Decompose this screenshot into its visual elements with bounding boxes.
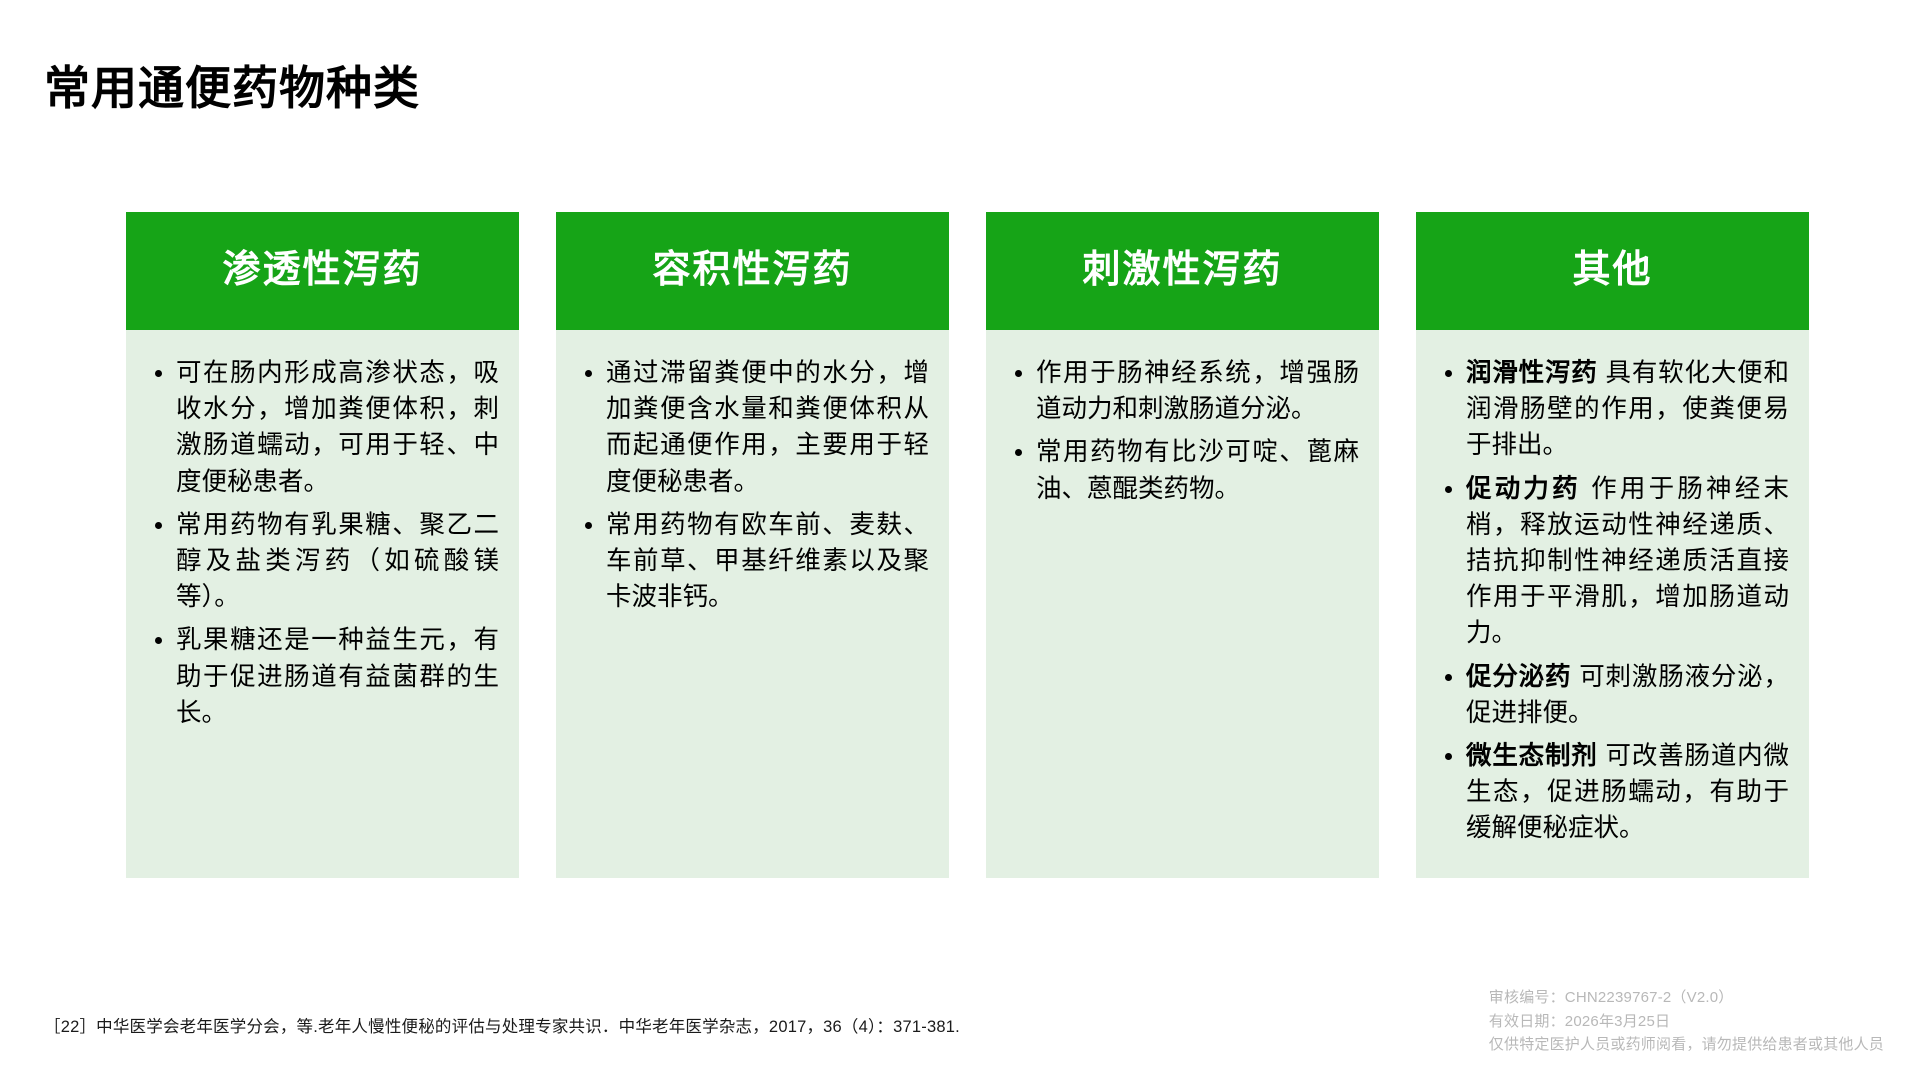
bullet-text: 常用药物有欧车前、麦麸、车前草、甲基纤维素以及聚卡波非钙。 [606,511,929,611]
category-header-osmotic: 渗透性泻药 [126,212,519,330]
category-column-bulking: 容积性泻药 通过滞留粪便中的水分，增加粪便含水量和粪便体积从而起通便作用，主要用… [556,212,949,878]
list-item: 微生态制剂 可改善肠道内微生态，促进肠蠕动，有助于缓解便秘症状。 [1436,738,1789,847]
category-body-bulking: 通过滞留粪便中的水分，增加粪便含水量和粪便体积从而起通便作用，主要用于轻度便秘患… [556,330,949,878]
approval-disclaimer: 仅供特定医护人员或药师阅看，请勿提供给患者或其他人员 [1489,1033,1884,1056]
bullet-text: 作用于肠神经系统，增强肠道动力和刺激肠道分泌。 [1036,359,1359,423]
bullet-text: 常用药物有乳果糖、聚乙二醇及盐类泻药（如硫酸镁等）。 [176,511,499,611]
list-item: 常用药物有乳果糖、聚乙二醇及盐类泻药（如硫酸镁等）。 [146,507,499,616]
category-body-other: 润滑性泻药 具有软化大便和润滑肠壁的作用，使粪便易于排出。 促动力药 作用于肠神… [1416,330,1809,878]
list-item: 促分泌药 可刺激肠液分泌，促进排便。 [1436,659,1789,731]
list-item: 润滑性泻药 具有软化大便和润滑肠壁的作用，使粪便易于排出。 [1436,355,1789,464]
bullet-lead: 微生态制剂 [1466,742,1598,770]
category-column-osmotic: 渗透性泻药 可在肠内形成高渗状态，吸收水分，增加粪便体积，刺激肠道蠕动，可用于轻… [126,212,519,878]
list-item: 通过滞留粪便中的水分，增加粪便含水量和粪便体积从而起通便作用，主要用于轻度便秘患… [576,355,929,500]
bullet-lead: 促分泌药 [1466,663,1571,691]
category-body-osmotic: 可在肠内形成高渗状态，吸收水分，增加粪便体积，刺激肠道蠕动，可用于轻、中度便秘患… [126,330,519,878]
slide: 常用通便药物种类 渗透性泻药 可在肠内形成高渗状态，吸收水分，增加粪便体积，刺激… [0,0,1920,1080]
category-header-label: 刺激性泻药 [1082,250,1282,292]
category-header-label: 渗透性泻药 [222,250,422,292]
bullet-text: 乳果糖还是一种益生元，有助于促进肠道有益菌群的生长。 [176,626,499,726]
bullet-lead: 促动力药 [1466,475,1581,503]
category-header-label: 其他 [1572,250,1652,292]
approval-code: 审核编号：CHN2239767-2（V2.0） [1489,986,1884,1009]
list-item: 乳果糖还是一种益生元，有助于促进肠道有益菌群的生长。 [146,622,499,731]
list-item: 可在肠内形成高渗状态，吸收水分，增加粪便体积，刺激肠道蠕动，可用于轻、中度便秘患… [146,355,499,500]
list-item: 常用药物有欧车前、麦麸、车前草、甲基纤维素以及聚卡波非钙。 [576,507,929,616]
list-item: 促动力药 作用于肠神经末梢，释放运动性神经递质、拮抗抑制性神经递质活直接作用于平… [1436,471,1789,652]
bullet-text: 可在肠内形成高渗状态，吸收水分，增加粪便体积，刺激肠道蠕动，可用于轻、中度便秘患… [176,359,499,496]
bullet-text: 通过滞留粪便中的水分，增加粪便含水量和粪便体积从而起通便作用，主要用于轻度便秘患… [606,359,929,496]
list-item: 作用于肠神经系统，增强肠道动力和刺激肠道分泌。 [1006,355,1359,427]
reference-citation: ［22］中华医学会老年医学分会，等.老年人慢性便秘的评估与处理专家共识．中华老年… [44,1013,960,1037]
bullet-list: 润滑性泻药 具有软化大便和润滑肠壁的作用，使粪便易于排出。 促动力药 作用于肠神… [1436,355,1789,847]
bullet-list: 通过滞留粪便中的水分，增加粪便含水量和粪便体积从而起通便作用，主要用于轻度便秘患… [576,355,929,615]
category-header-stimulant: 刺激性泻药 [986,212,1379,330]
category-column-other: 其他 润滑性泻药 具有软化大便和润滑肠壁的作用，使粪便易于排出。 促动力药 作用… [1416,212,1809,878]
category-column-stimulant: 刺激性泻药 作用于肠神经系统，增强肠道动力和刺激肠道分泌。 常用药物有比沙可啶、… [986,212,1379,878]
category-columns: 渗透性泻药 可在肠内形成高渗状态，吸收水分，增加粪便体积，刺激肠道蠕动，可用于轻… [126,212,1920,878]
page-title: 常用通便药物种类 [44,61,420,116]
list-item: 常用药物有比沙可啶、蓖麻油、蒽醌类药物。 [1006,434,1359,506]
category-body-stimulant: 作用于肠神经系统，增强肠道动力和刺激肠道分泌。 常用药物有比沙可啶、蓖麻油、蒽醌… [986,330,1379,878]
approval-block: 审核编号：CHN2239767-2（V2.0） 有效日期：2026年3月25日 … [1489,986,1884,1056]
bullet-text: 常用药物有比沙可啶、蓖麻油、蒽醌类药物。 [1036,438,1359,502]
category-header-other: 其他 [1416,212,1809,330]
category-header-label: 容积性泻药 [652,250,852,292]
bullet-list: 可在肠内形成高渗状态，吸收水分，增加粪便体积，刺激肠道蠕动，可用于轻、中度便秘患… [146,355,499,731]
approval-expiry: 有效日期：2026年3月25日 [1489,1010,1884,1033]
category-header-bulking: 容积性泻药 [556,212,949,330]
bullet-list: 作用于肠神经系统，增强肠道动力和刺激肠道分泌。 常用药物有比沙可啶、蓖麻油、蒽醌… [1006,355,1359,507]
bullet-lead: 润滑性泻药 [1466,359,1598,387]
